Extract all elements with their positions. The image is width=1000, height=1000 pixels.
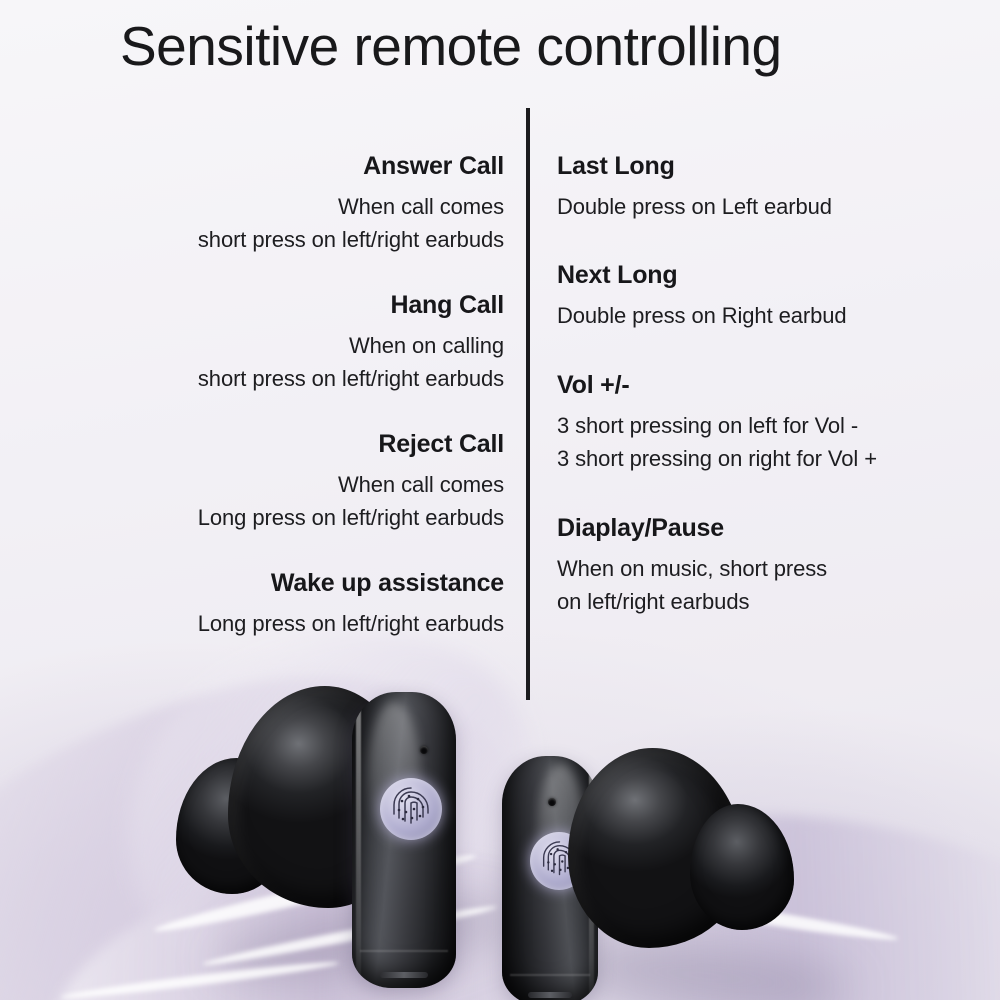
feature-description: Double press on Right earbud — [557, 299, 977, 332]
left-earbud-stem — [352, 692, 456, 988]
feature-item: Last Long Double press on Left earbud — [557, 150, 977, 223]
stem-seam — [360, 950, 448, 952]
feature-heading: Reject Call — [56, 428, 504, 460]
column-divider — [526, 108, 530, 700]
feature-heading: Next Long — [557, 259, 977, 291]
left-feature-column: Answer Call When call comes short press … — [56, 150, 504, 672]
feature-line: When on music, short press — [557, 552, 977, 585]
feature-heading: Vol +/- — [557, 369, 977, 401]
feature-heading: Diaplay/Pause — [557, 512, 977, 544]
product-image — [0, 660, 1000, 1000]
feature-description: When on calling short press on left/righ… — [56, 329, 504, 396]
charging-contacts — [528, 992, 572, 998]
feature-line: Long press on left/right earbuds — [56, 501, 504, 534]
feature-line: When call comes — [56, 190, 504, 223]
feature-heading: Wake up assistance — [56, 567, 504, 599]
feature-item: Next Long Double press on Right earbud — [557, 259, 977, 332]
microphone-hole-icon — [420, 746, 428, 754]
feature-description: When call comes short press on left/righ… — [56, 190, 504, 257]
feature-item: Wake up assistance Long press on left/ri… — [56, 567, 504, 640]
right-earbud — [494, 738, 794, 1000]
feature-line: When call comes — [56, 468, 504, 501]
feature-line: short press on left/right earbuds — [56, 223, 504, 256]
feature-description: When on music, short press on left/right… — [557, 552, 977, 619]
feature-item: Vol +/- 3 short pressing on left for Vol… — [557, 369, 977, 476]
feature-description: Long press on left/right earbuds — [56, 607, 504, 640]
feature-line: 3 short pressing on right for Vol + — [557, 442, 977, 475]
stem-edge-highlight — [356, 696, 361, 978]
left-earbud — [176, 680, 476, 1000]
feature-line: When on calling — [56, 329, 504, 362]
feature-line: 3 short pressing on left for Vol - — [557, 409, 977, 442]
feature-item: Reject Call When call comes Long press o… — [56, 428, 504, 535]
charging-contacts — [380, 972, 428, 978]
feature-line: Long press on left/right earbuds — [56, 607, 504, 640]
feature-description: When call comes Long press on left/right… — [56, 468, 504, 535]
fingerprint-touch-icon[interactable] — [380, 778, 442, 840]
feature-line: short press on left/right earbuds — [56, 362, 504, 395]
stem-seam — [510, 974, 590, 976]
feature-description: 3 short pressing on left for Vol - 3 sho… — [557, 409, 977, 476]
feature-heading: Hang Call — [56, 289, 504, 321]
feature-line: on left/right earbuds — [557, 585, 977, 618]
feature-item: Answer Call When call comes short press … — [56, 150, 504, 257]
feature-line: Double press on Left earbud — [557, 190, 977, 223]
feature-heading: Last Long — [557, 150, 977, 182]
feature-description: Double press on Left earbud — [557, 190, 977, 223]
feature-line: Double press on Right earbud — [557, 299, 977, 332]
feature-heading: Answer Call — [56, 150, 504, 182]
feature-item: Diaplay/Pause When on music, short press… — [557, 512, 977, 619]
microphone-hole-icon — [548, 798, 556, 806]
page-title: Sensitive remote controlling — [120, 14, 782, 78]
right-feature-column: Last Long Double press on Left earbud Ne… — [557, 150, 977, 655]
feature-item: Hang Call When on calling short press on… — [56, 289, 504, 396]
right-earbud-ear-tip — [690, 804, 794, 930]
product-infographic: Sensitive remote controlling Answer Call… — [0, 0, 1000, 1000]
